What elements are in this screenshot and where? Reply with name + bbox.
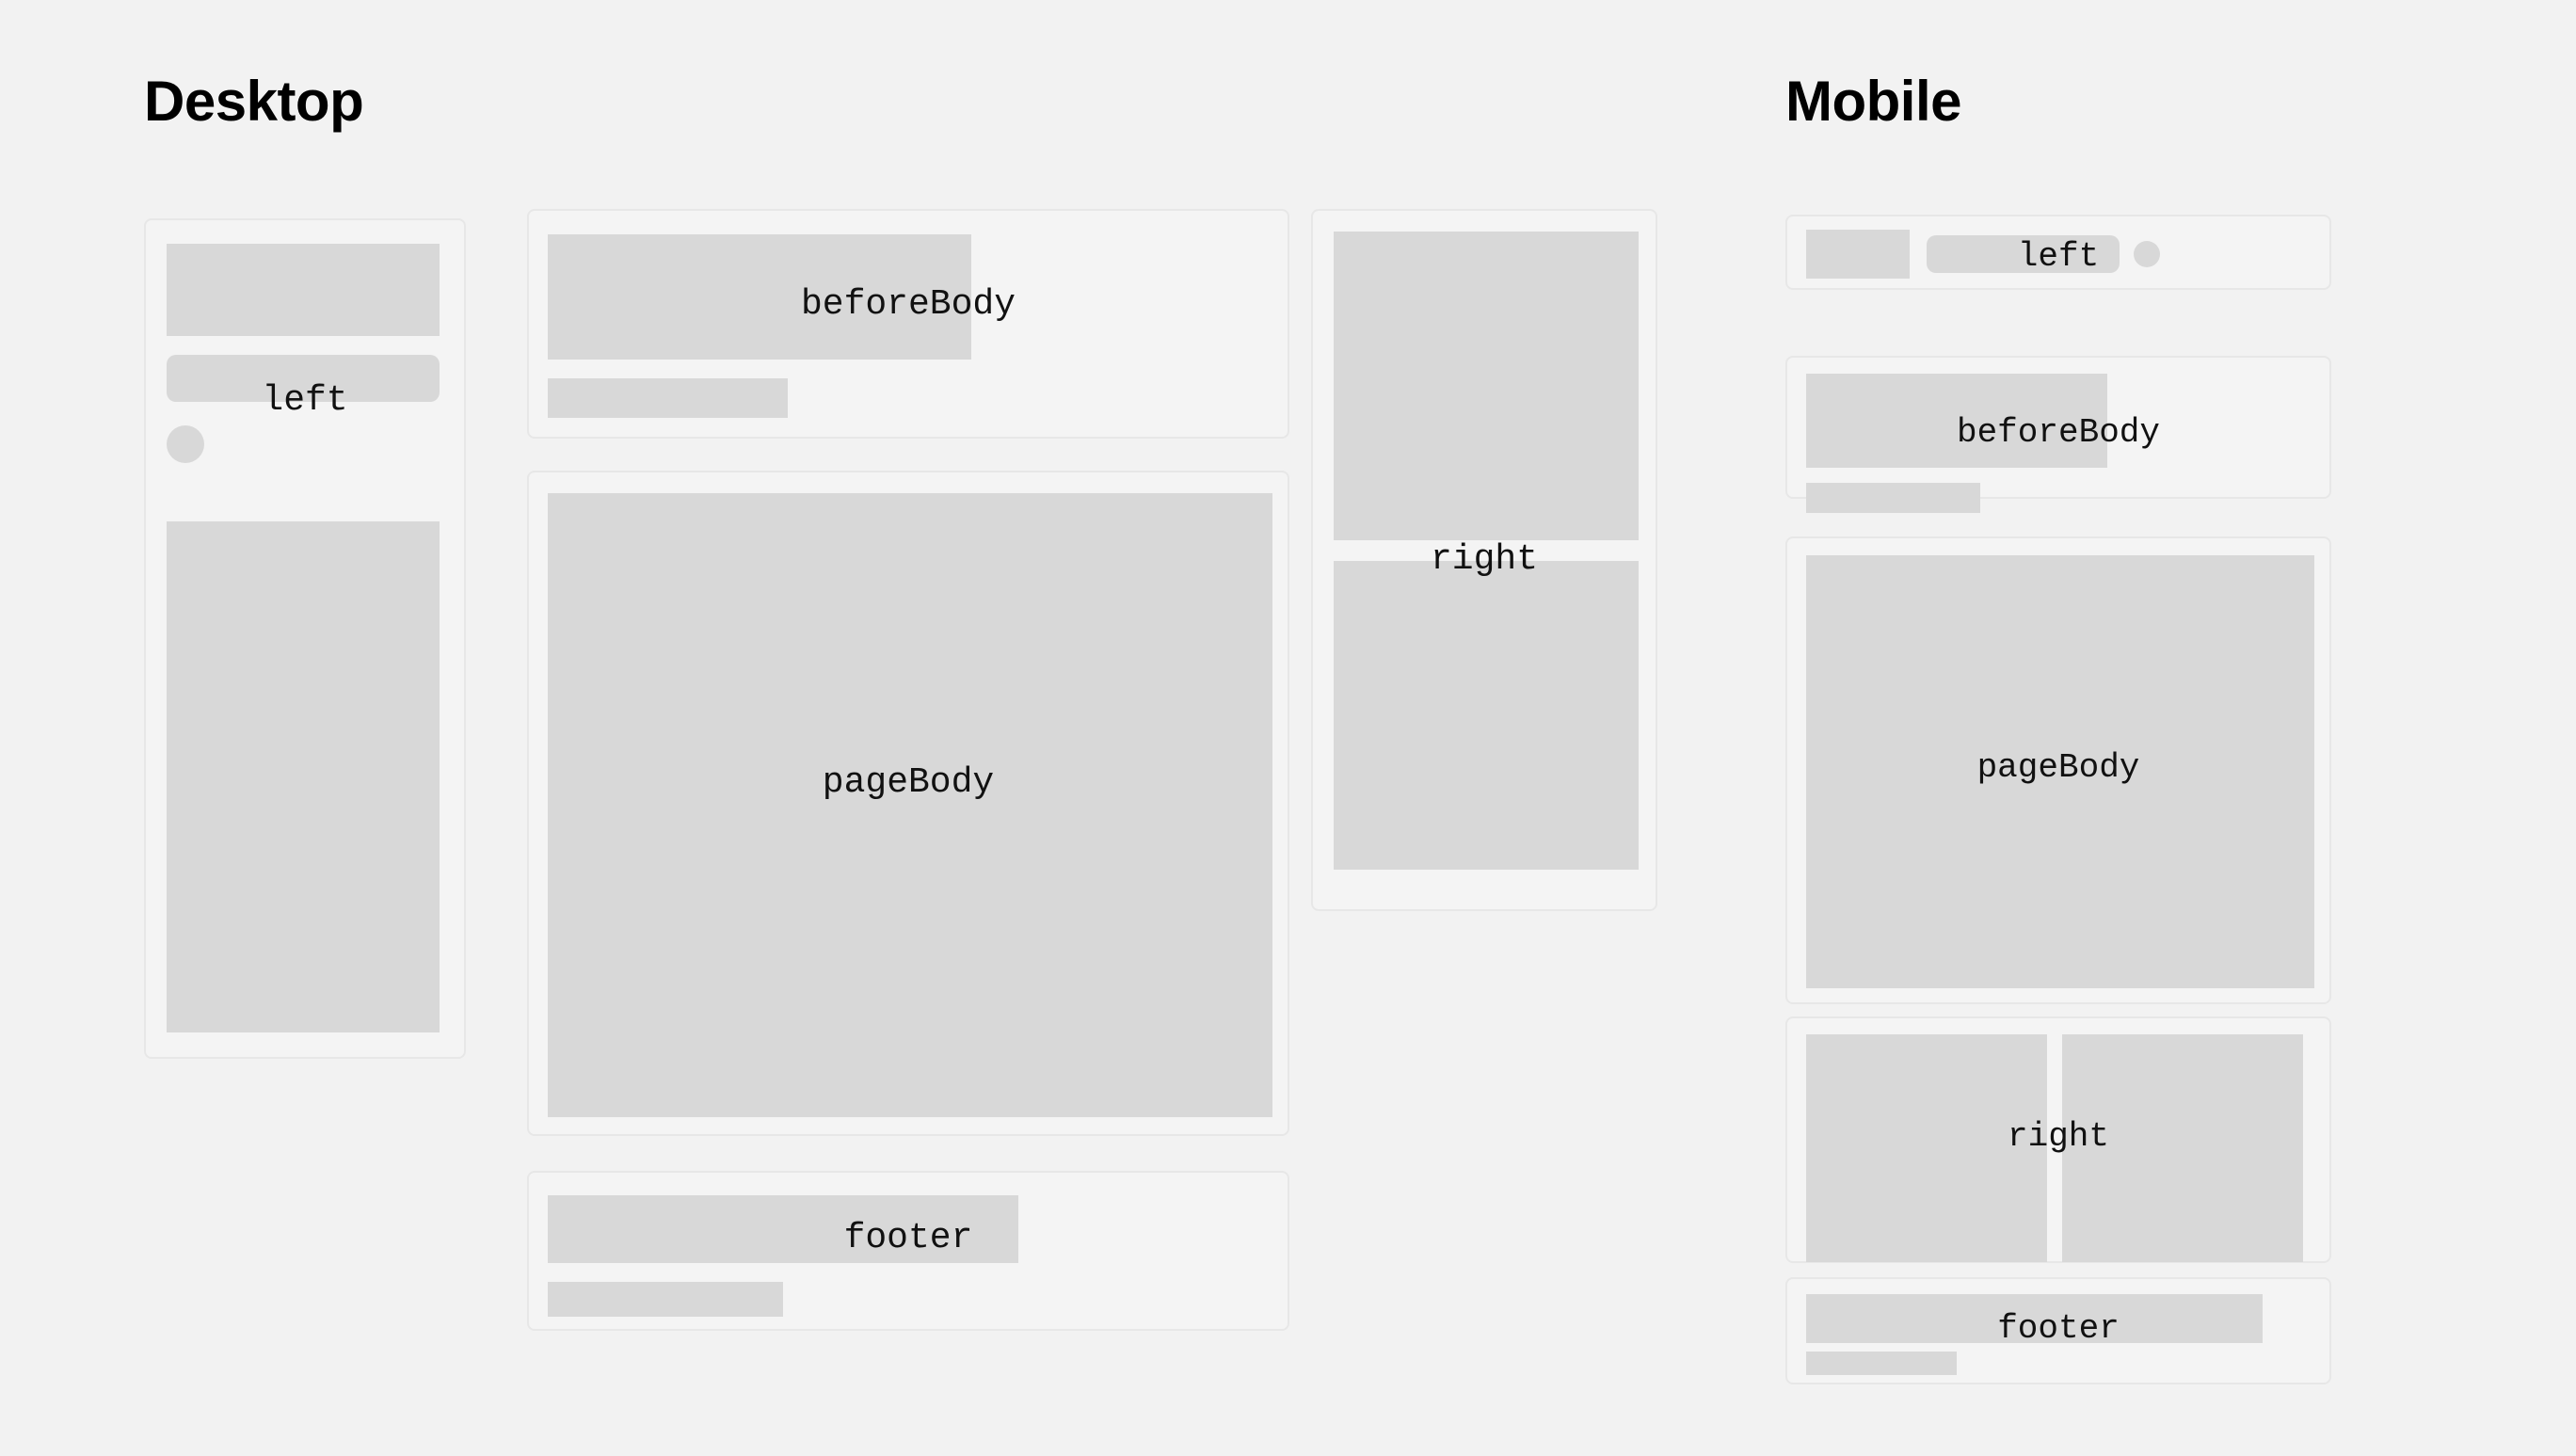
desktop-left-circle-icon (167, 425, 204, 463)
desktop-beforebody-wide-block (548, 234, 971, 360)
desktop-beforebody-region-panel[interactable] (527, 209, 1289, 439)
mobile-beforebody-wide-block (1806, 374, 2107, 468)
desktop-beforebody-narrow-bar (548, 378, 788, 418)
desktop-right-region-panel[interactable] (1311, 209, 1657, 911)
desktop-pagebody-region-panel[interactable] (527, 471, 1289, 1136)
desktop-pagebody-large-block (548, 493, 1272, 1117)
mobile-section-title: Mobile (1785, 73, 1961, 130)
mobile-footer-region-panel[interactable] (1785, 1277, 2331, 1384)
mobile-pagebody-region-panel[interactable] (1785, 536, 2331, 1004)
mobile-left-region-panel[interactable] (1785, 215, 2331, 290)
mobile-beforebody-narrow-bar (1806, 483, 1980, 513)
mobile-footer-wide-bar (1806, 1294, 2263, 1343)
mobile-left-rounded-bar (1927, 235, 2120, 273)
desktop-footer-narrow-bar (548, 1282, 783, 1317)
mobile-left-circle-icon (2134, 241, 2160, 267)
desktop-left-region-panel[interactable] (144, 218, 466, 1059)
desktop-section-title: Desktop (144, 73, 363, 130)
desktop-right-upper-block (1334, 232, 1639, 540)
desktop-footer-wide-bar (548, 1195, 1018, 1263)
desktop-left-tall-block (167, 244, 440, 336)
mobile-right-right-column-block (2062, 1034, 2303, 1262)
mobile-left-small-block (1806, 230, 1910, 279)
desktop-footer-region-panel[interactable] (527, 1171, 1289, 1331)
desktop-left-rounded-bar (167, 355, 440, 402)
desktop-right-lower-block (1334, 561, 1639, 870)
mobile-right-region-panel[interactable] (1785, 1016, 2331, 1263)
mobile-beforebody-region-panel[interactable] (1785, 356, 2331, 499)
mobile-pagebody-large-block (1806, 555, 2314, 988)
mobile-footer-narrow-bar (1806, 1352, 1957, 1375)
desktop-left-content-block (167, 521, 440, 1032)
mobile-right-left-column-block (1806, 1034, 2047, 1262)
